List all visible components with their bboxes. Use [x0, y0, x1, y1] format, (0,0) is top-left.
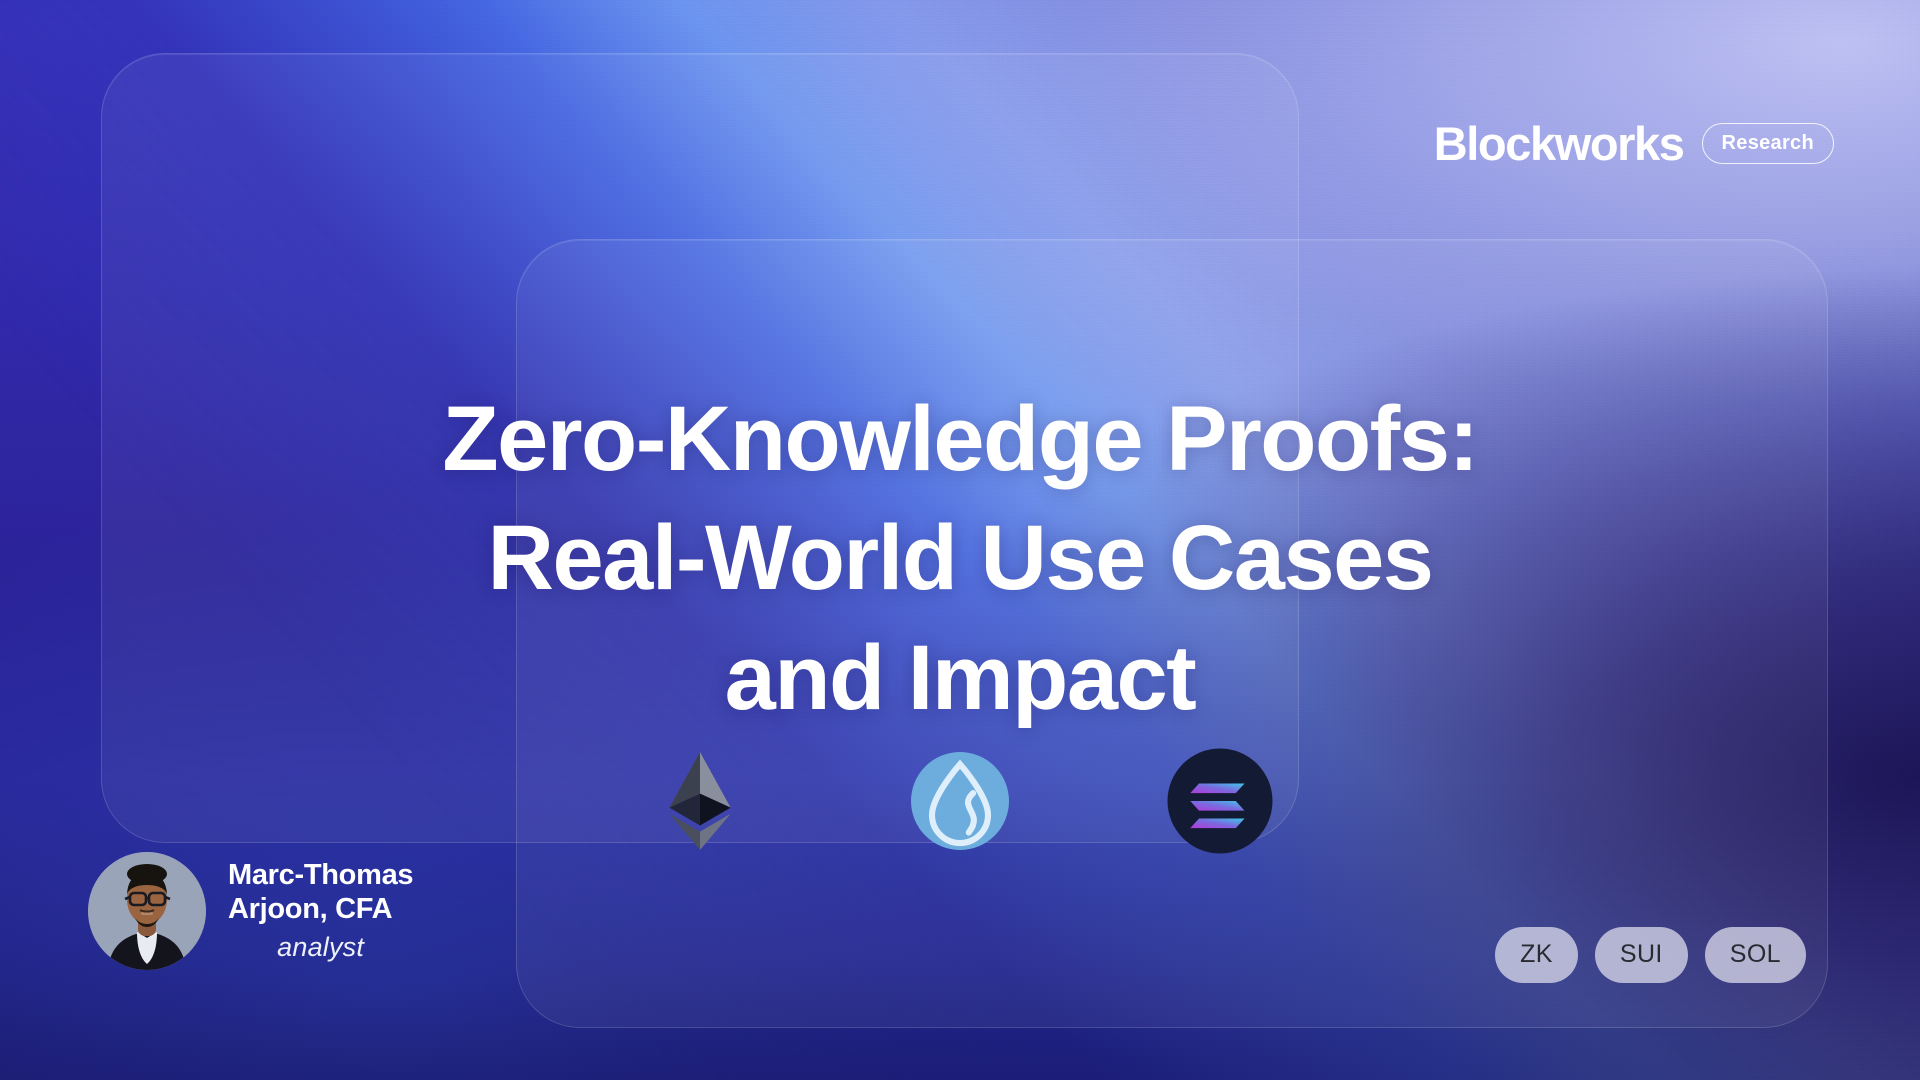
brand-wordmark: Blockworks	[1434, 120, 1684, 167]
tag-list: ZK SUI SOL	[1495, 927, 1806, 983]
tag-zk[interactable]: ZK	[1495, 927, 1578, 983]
author-text: Marc-Thomas Arjoon, CFA analyst	[228, 859, 413, 963]
brand-research-badge: Research	[1702, 123, 1834, 164]
avatar	[88, 852, 206, 970]
page-title-line-2: Real-World Use Cases	[150, 499, 1770, 619]
avatar-portrait-icon	[88, 852, 206, 970]
chain-logo-row	[0, 745, 1920, 857]
sui-icon	[904, 745, 1016, 857]
page-title-line-1: Zero-Knowledge Proofs:	[150, 380, 1770, 500]
author-name: Marc-Thomas Arjoon, CFA	[228, 859, 413, 927]
author-block[interactable]: Marc-Thomas Arjoon, CFA analyst	[88, 852, 413, 970]
page-title: Zero-Knowledge Proofs: Real-World Use Ca…	[0, 380, 1920, 739]
ethereum-icon	[644, 745, 756, 857]
tag-sol[interactable]: SOL	[1705, 927, 1806, 983]
page-title-line-3: and Impact	[150, 619, 1770, 739]
cover-canvas: Blockworks Research Zero-Knowledge Proof…	[0, 0, 1920, 1080]
tag-sui[interactable]: SUI	[1595, 927, 1688, 983]
brand-logo[interactable]: Blockworks Research	[1434, 120, 1834, 167]
author-role: analyst	[228, 931, 413, 963]
solana-icon	[1164, 745, 1276, 857]
